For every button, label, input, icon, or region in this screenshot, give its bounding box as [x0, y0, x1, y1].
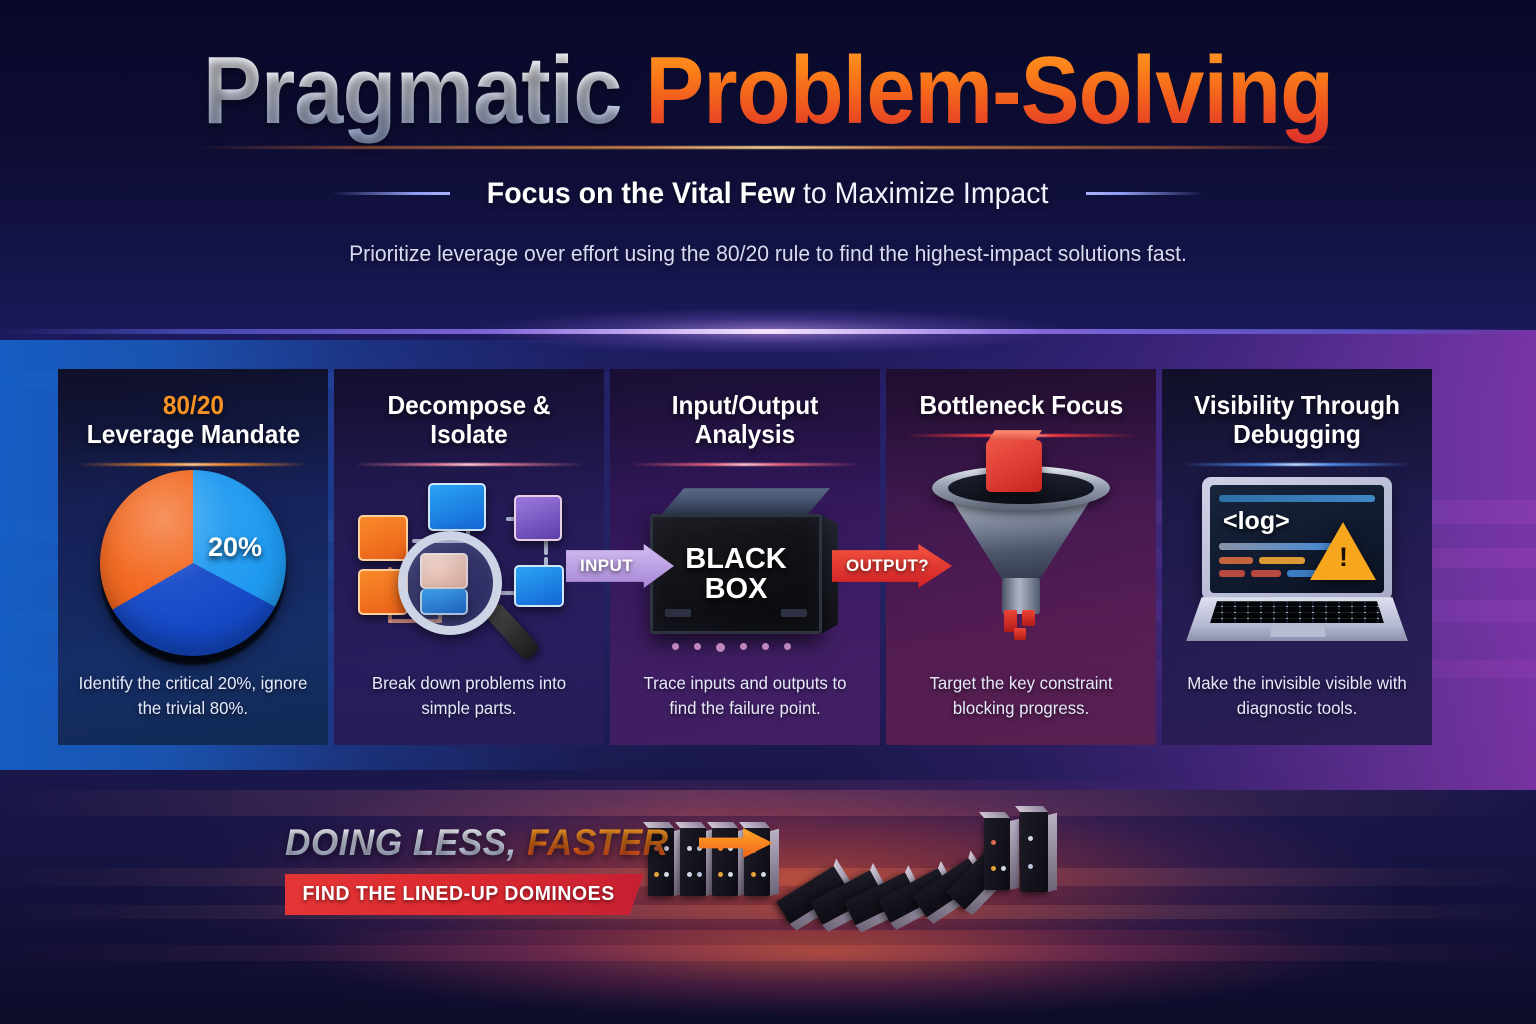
banner-arrow-icon — [699, 828, 773, 858]
card-3-divider — [629, 463, 861, 466]
card-2-caption: Decompose & Isolate — [348, 391, 590, 449]
background-warm-glow-lower — [193, 930, 1343, 1024]
screen-chip — [1259, 557, 1305, 564]
divider-beam — [0, 329, 1536, 334]
vent — [665, 609, 691, 617]
warning-exclamation-icon: ! — [1339, 544, 1348, 571]
card-decompose-isolate[interactable]: Decompose & Isolate — [334, 369, 604, 745]
screen-chip — [1219, 557, 1253, 564]
black-box: BLACK BOX — [650, 488, 840, 638]
black-box-label: BLACK BOX — [685, 544, 787, 604]
card-3-caption: Input/Output Analysis — [624, 391, 866, 449]
pie-slice-label: 20% — [208, 532, 262, 563]
pie-sheen — [100, 470, 286, 656]
title-part-pragmatic: Pragmatic — [203, 37, 645, 144]
card-3-title: Input/Output Analysis — [631, 391, 858, 449]
banner-title-orange: FASTER — [517, 822, 669, 863]
subtitle-row: Focus on the Vital Few to Maximize Impac… — [0, 177, 1536, 211]
blocking-cube — [986, 440, 1042, 492]
pie-chart: 20% — [100, 470, 286, 656]
magnifier-ring — [398, 531, 502, 635]
cards-row: 80/20 Leverage Mandate 20% Identify the … — [58, 369, 1432, 745]
card-1-divider — [77, 463, 309, 466]
black-box-top — [660, 488, 830, 516]
card-leverage-mandate[interactable]: 80/20 Leverage Mandate 20% Identify the … — [58, 369, 328, 745]
laptop-keyboard — [1210, 601, 1384, 623]
card-2-art — [348, 468, 590, 658]
screen-chip — [1219, 570, 1245, 577]
card-4-art — [900, 439, 1142, 629]
subtitle-bold: Focus on the Vital Few — [487, 177, 795, 210]
node-blue — [428, 483, 486, 531]
card-5-description: Make the invisible visible with diagnost… — [1181, 671, 1413, 721]
banner-title-row: DOING LESS, FASTER — [285, 822, 773, 864]
subtitle-rule-left — [332, 192, 450, 195]
card-2-title: Decompose & Isolate — [355, 391, 582, 449]
black-box-label-line1: BLACK — [685, 543, 787, 575]
card-1-title: 80/20 Leverage Mandate — [86, 391, 299, 449]
node-diagram — [354, 473, 584, 653]
funnel-drip — [1022, 610, 1035, 626]
card-4-description: Target the key constraint blocking progr… — [905, 671, 1137, 721]
card-2-divider — [353, 463, 585, 466]
subtitle-light: to Maximize Impact — [795, 177, 1048, 210]
header: Pragmatic Problem-Solving Focus on the V… — [0, 0, 1536, 267]
subtitle: Focus on the Vital Few to Maximize Impac… — [487, 177, 1049, 211]
laptop-screen: <log> ! — [1210, 485, 1384, 593]
bottom-banner: DOING LESS, FASTER FIND THE LINED-UP DOM… — [285, 822, 773, 915]
input-arrow-label: INPUT — [580, 556, 633, 576]
vent — [781, 609, 807, 617]
card-1-description: Identify the critical 20%, ignore the tr… — [77, 671, 309, 721]
page-description: Prioritize leverage over effort using th… — [31, 241, 1506, 267]
subtitle-rule-right — [1086, 192, 1204, 195]
output-arrow-label: OUTPUT? — [846, 556, 929, 576]
card-5-divider — [1181, 463, 1413, 466]
card-4-title: Bottleneck Focus — [919, 391, 1123, 420]
card-1-title-rest: Leverage Mandate — [86, 419, 299, 449]
funnel-icon — [926, 444, 1116, 624]
screen-bar — [1219, 495, 1375, 502]
card-visibility-debugging[interactable]: Visibility Through Debugging <log> — [1162, 369, 1432, 745]
black-box-label-line2: BOX — [705, 573, 768, 605]
card-5-caption: Visibility Through Debugging — [1176, 391, 1418, 449]
laptop-lid: <log> ! — [1202, 477, 1392, 601]
funnel-neck — [1002, 578, 1040, 614]
node-purple — [514, 495, 562, 541]
funnel-drip — [1014, 628, 1026, 640]
laptop-trackpad — [1270, 625, 1326, 637]
card-5-title: Visibility Through Debugging — [1183, 391, 1410, 449]
card-1-title-accent: 80/20 — [162, 390, 223, 420]
node-blue — [514, 565, 564, 607]
magnifier-icon — [398, 531, 502, 635]
card-2-description: Break down problems into simple parts. — [353, 671, 585, 721]
card-5-art: <log> ! — [1176, 468, 1418, 658]
card-1-caption: 80/20 Leverage Mandate — [80, 391, 307, 449]
domino-standing — [1020, 812, 1048, 892]
card-4-caption: Bottleneck Focus — [913, 391, 1130, 420]
card-1-art: 20% — [72, 468, 314, 658]
title-part-problem-solving: Problem-Solving — [645, 37, 1333, 144]
card-3-description: Trace inputs and outputs to find the fai… — [629, 671, 861, 721]
laptop-icon: <log> ! — [1186, 477, 1408, 649]
domino-standing — [984, 818, 1010, 890]
screen-chip — [1251, 570, 1281, 577]
banner-tag: FIND THE LINED-UP DOMINOES — [285, 874, 644, 915]
black-box-dots — [672, 643, 791, 652]
banner-title: DOING LESS, FASTER — [285, 822, 669, 864]
banner-title-white: DOING LESS, — [285, 822, 517, 863]
title-underline — [193, 146, 1343, 149]
black-box-body: BLACK BOX — [650, 514, 822, 634]
page-title: Pragmatic Problem-Solving — [61, 42, 1474, 140]
